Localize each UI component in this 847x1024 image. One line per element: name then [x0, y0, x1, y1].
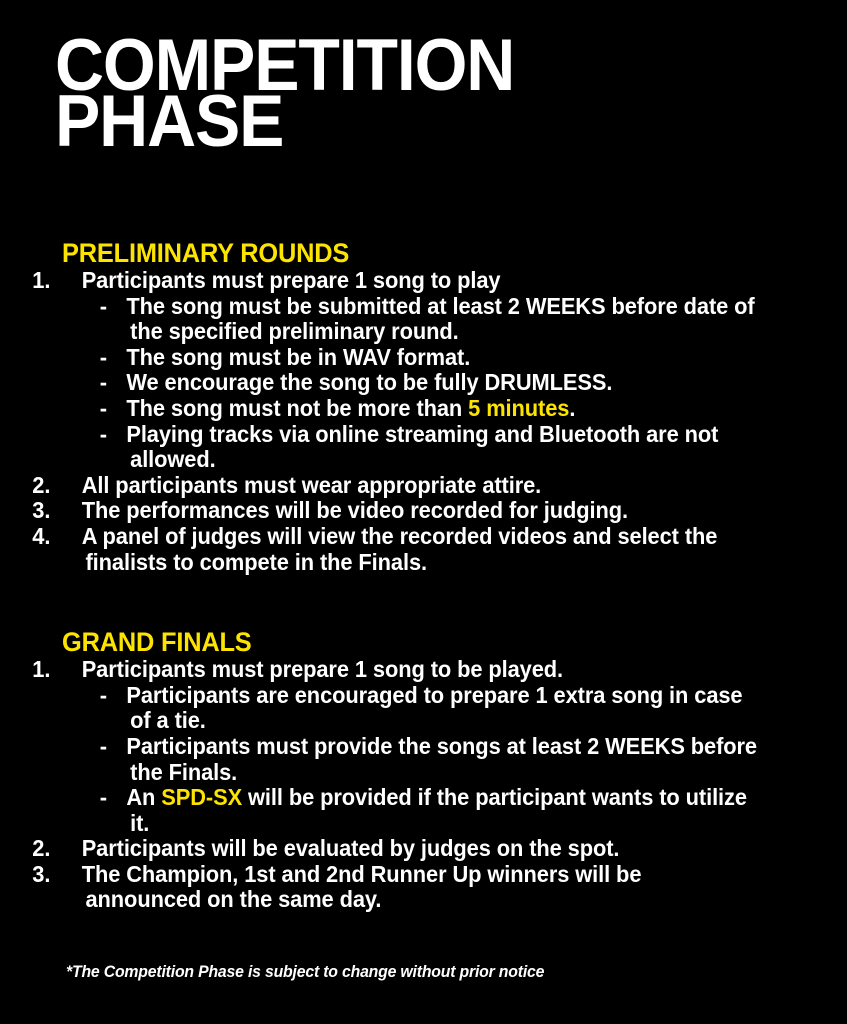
item-text: Participants must prepare 1 song to be p…	[82, 656, 563, 682]
item-number: 4.	[59, 524, 82, 550]
sub-item-dash: -	[115, 785, 126, 811]
sub-item: -Playing tracks via online streaming and…	[0, 422, 805, 473]
sub-item-dash: -	[115, 345, 126, 371]
sub-item: -Participants must provide the songs at …	[0, 734, 805, 785]
numbered-item: 2.All participants must wear appropriate…	[0, 473, 805, 499]
numbered-item: 3.The Champion, 1st and 2nd Runner Up wi…	[0, 862, 805, 913]
page-title-line-2: PHASE	[55, 94, 762, 150]
item-text: Participants will be evaluated by judges…	[82, 835, 620, 861]
numbered-item: 3.The performances will be video recorde…	[0, 498, 805, 524]
sub-item-text: Playing tracks via online streaming and …	[126, 421, 718, 473]
sub-item-dash: -	[115, 422, 126, 448]
competition-phase-poster: COMPETITION PHASE PRELIMINARY ROUNDS1.Pa…	[0, 0, 847, 1024]
sub-item: -The song must be in WAV format.	[0, 345, 805, 371]
numbered-item-list: 1.Participants must prepare 1 song to be…	[0, 657, 847, 913]
sub-item-dash: -	[115, 294, 126, 320]
section-heading: GRAND FINALS	[0, 627, 796, 657]
numbered-item: 1.Participants must prepare 1 song to pl…	[0, 268, 805, 294]
item-text: The performances will be video recorded …	[82, 497, 628, 523]
item-number: 3.	[59, 498, 82, 524]
numbered-item: 2.Participants will be evaluated by judg…	[0, 836, 805, 862]
sub-item-text: Participants are encouraged to prepare 1…	[126, 682, 742, 734]
item-number: 2.	[59, 473, 82, 499]
highlighted-term: 5 minutes	[468, 395, 569, 421]
item-text: Participants must prepare 1 song to play	[82, 267, 501, 293]
item-text: All participants must wear appropriate a…	[82, 472, 541, 498]
item-text: The Champion, 1st and 2nd Runner Up winn…	[82, 861, 642, 913]
item-number: 2.	[59, 836, 82, 862]
sub-item: -An SPD-SX will be provided if the parti…	[0, 785, 805, 836]
sub-item: -We encourage the song to be fully DRUML…	[0, 370, 805, 396]
numbered-item-list: 1.Participants must prepare 1 song to pl…	[0, 268, 847, 575]
sub-item-text: Participants must provide the songs at l…	[126, 733, 757, 785]
sub-item-text: .	[569, 395, 575, 421]
sub-item-list: -The song must be submitted at least 2 W…	[0, 294, 847, 473]
item-text: A panel of judges will view the recorded…	[82, 523, 718, 575]
sub-item: -Participants are encouraged to prepare …	[0, 683, 805, 734]
numbered-item: 1.Participants must prepare 1 song to be…	[0, 657, 805, 683]
highlighted-term: SPD-SX	[161, 784, 242, 810]
item-number: 1.	[59, 268, 82, 294]
numbered-item: 4.A panel of judges will view the record…	[0, 524, 805, 575]
sub-item: -The song must be submitted at least 2 W…	[0, 294, 805, 345]
sub-item-text: The song must not be more than	[126, 395, 468, 421]
sub-item-text: The song must be submitted at least 2 WE…	[126, 293, 754, 345]
sub-item: -The song must not be more than 5 minute…	[0, 396, 805, 422]
footnote-disclaimer: *The Competition Phase is subject to cha…	[66, 962, 544, 982]
section: PRELIMINARY ROUNDS1.Participants must pr…	[0, 238, 847, 575]
sub-item-dash: -	[115, 396, 126, 422]
sub-item-dash: -	[115, 370, 126, 396]
sub-item-dash: -	[115, 734, 126, 760]
sub-item-text: We encourage the song to be fully DRUMLE…	[126, 369, 612, 395]
sub-item-list: -Participants are encouraged to prepare …	[0, 683, 847, 837]
sub-item-text: An	[126, 784, 161, 810]
item-number: 1.	[59, 657, 82, 683]
sections-container: PRELIMINARY ROUNDS1.Participants must pr…	[0, 238, 847, 913]
sub-item-text: The song must be in WAV format.	[126, 344, 470, 370]
sub-item-dash: -	[115, 683, 126, 709]
page-title: COMPETITION PHASE	[55, 38, 815, 150]
section-heading: PRELIMINARY ROUNDS	[0, 238, 796, 268]
section: GRAND FINALS1.Participants must prepare …	[0, 627, 847, 913]
item-number: 3.	[59, 862, 82, 888]
